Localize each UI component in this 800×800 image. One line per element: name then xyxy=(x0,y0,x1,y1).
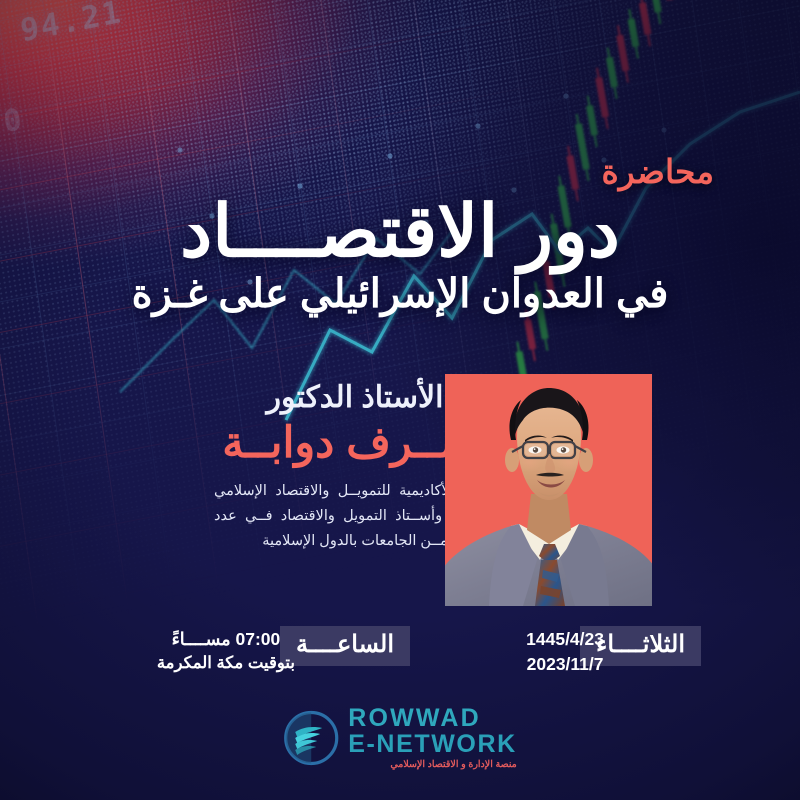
rowwad-book-circle-icon xyxy=(283,710,339,766)
time-group: 07:00 مســــاءً بتوقيت مكة المكرمة xyxy=(157,627,295,675)
page-subtitle: في العدوان الإسرائيلي على غـزة xyxy=(60,272,740,316)
logo-text-block: ROWWAD E-NETWORK منصة الإدارة و الاقتصاد… xyxy=(348,706,517,770)
logo-arabic-tagline: منصة الإدارة و الاقتصاد الإسلامي xyxy=(348,760,517,770)
portrait-illustration xyxy=(445,374,652,606)
lecture-label: محاضرة xyxy=(601,152,714,191)
page-title: دور الاقتصــــاد xyxy=(60,196,740,269)
date-hijri: 1445/4/23 xyxy=(526,627,604,652)
date-group: 1445/4/23 2023/11/7 xyxy=(526,627,604,677)
logo-line-2: E-NETWORK xyxy=(348,732,517,757)
brand-logo[interactable]: ROWWAD E-NETWORK منصة الإدارة و الاقتصاد… xyxy=(283,706,517,770)
poster-content: محاضرة دور الاقتصــــاد في العدوان الإسر… xyxy=(0,0,800,800)
time-value: 07:00 مســــاءً xyxy=(157,627,295,652)
speaker-photo xyxy=(445,374,652,606)
schedule-row: الثلاثــــاء 1445/4/23 2023/11/7 الساعــ… xyxy=(0,626,800,678)
poster-canvas: 27.69 08.11 52.19 94.21 22.0 11.74 74.82… xyxy=(0,0,800,800)
date-gregorian: 2023/11/7 xyxy=(526,652,604,677)
logo-line-1: ROWWAD xyxy=(348,706,517,731)
timezone-label: بتوقيت مكة المكرمة xyxy=(157,652,295,675)
time-badge: الساعــــة xyxy=(280,626,410,666)
